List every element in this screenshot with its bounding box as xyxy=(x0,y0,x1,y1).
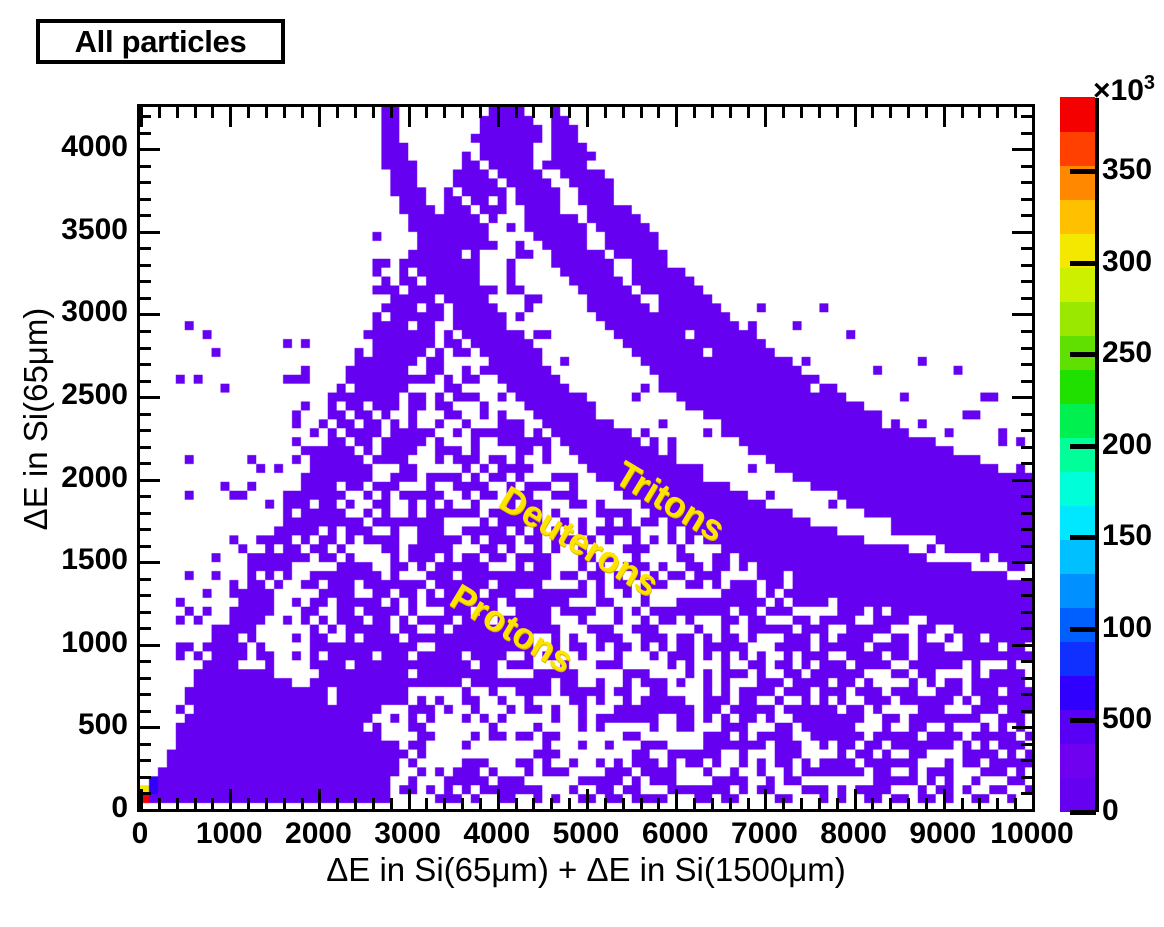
x-tick-top xyxy=(372,107,375,118)
colorbar-band xyxy=(1060,97,1095,132)
x-tick-bottom xyxy=(461,798,464,809)
x-tick-bottom xyxy=(711,798,714,809)
colorbar-band xyxy=(1060,675,1095,710)
x-tick-top xyxy=(907,107,910,118)
x-tick-top xyxy=(640,107,643,118)
colorbar-band xyxy=(1060,267,1095,302)
y-tick-right xyxy=(1021,743,1032,746)
x-tick-top xyxy=(729,107,732,118)
x-tick-top xyxy=(408,107,411,127)
x-tick-top xyxy=(229,107,232,127)
y-tick-right xyxy=(1021,776,1032,779)
colorbar-tick-label: 350 xyxy=(1102,155,1152,185)
y-tick-right xyxy=(1021,693,1032,696)
x-tick-top xyxy=(425,107,428,118)
x-tick-top xyxy=(318,107,321,127)
histogram-bins-canvas xyxy=(140,107,1032,809)
colorbar-tick-label: 250 xyxy=(1102,338,1152,368)
y-tick-left xyxy=(140,165,151,168)
x-tick-top xyxy=(978,107,981,118)
y-tick-left xyxy=(140,347,151,350)
x-tick-bottom xyxy=(800,798,803,809)
y-tick-left xyxy=(140,380,151,383)
y-tick-right xyxy=(1021,363,1032,366)
x-tick-bottom xyxy=(194,798,197,809)
y-tick-left xyxy=(140,132,151,135)
x-tick-bottom xyxy=(229,789,232,809)
x-tick-bottom xyxy=(211,798,214,809)
x-tick-bottom xyxy=(390,798,393,809)
colorbar-tick-label: 0 xyxy=(1102,796,1119,826)
x-tick-bottom xyxy=(657,798,660,809)
y-tick-right xyxy=(1021,446,1032,449)
x-tick-top xyxy=(996,107,999,118)
y-tick-left xyxy=(140,611,151,614)
y-tick-left xyxy=(140,429,151,432)
colorbar-band xyxy=(1060,199,1095,234)
colorbar-exponent-label: ×103 xyxy=(1093,72,1155,108)
y-tick-left xyxy=(140,743,151,746)
x-tick-top xyxy=(532,107,535,118)
x-tick-bottom xyxy=(479,798,482,809)
plot-frame xyxy=(137,104,1035,812)
x-tick-top xyxy=(711,107,714,118)
colorbar-band xyxy=(1060,777,1095,812)
x-tick-top xyxy=(800,107,803,118)
colorbar-tick xyxy=(1070,352,1096,357)
x-tick-bottom xyxy=(729,798,732,809)
y-tick-left xyxy=(140,528,151,531)
x-tick-top xyxy=(1032,107,1035,127)
y-tick-right xyxy=(1021,132,1032,135)
x-tick-bottom xyxy=(604,798,607,809)
x-tick-top xyxy=(604,107,607,118)
x-tick-top xyxy=(1014,107,1017,118)
colorbar-tick-label: 300 xyxy=(1102,247,1152,277)
plot-title-box: All particles xyxy=(36,19,285,64)
y-tick-left xyxy=(140,512,151,515)
y-tick-left xyxy=(140,594,151,597)
x-tick-bottom xyxy=(640,798,643,809)
x-tick-top xyxy=(836,107,839,118)
x-tick-bottom xyxy=(996,798,999,809)
x-tick-top xyxy=(871,107,874,118)
y-tick-left xyxy=(140,627,151,630)
x-tick-top xyxy=(515,107,518,118)
x-tick-bottom xyxy=(515,798,518,809)
x-tick-bottom xyxy=(907,798,910,809)
y-tick-right xyxy=(1012,479,1032,482)
x-tick-top xyxy=(854,107,857,127)
colorbar-tick-label: 200 xyxy=(1102,430,1152,460)
colorbar-axis-line xyxy=(1095,98,1099,812)
y-tick-right xyxy=(1021,462,1032,465)
colorbar-band xyxy=(1060,539,1095,574)
x-tick-bottom xyxy=(336,798,339,809)
y-tick-left xyxy=(140,578,151,581)
x-tick-top xyxy=(354,107,357,118)
x-tick-label: 10000 xyxy=(967,819,1097,849)
y-axis-title: ΔE in Si(65μm) xyxy=(17,99,55,739)
y-tick-left xyxy=(140,297,151,300)
x-tick-bottom xyxy=(408,789,411,809)
colorbar-band xyxy=(1060,471,1095,506)
x-tick-bottom xyxy=(568,798,571,809)
colorbar-tick xyxy=(1070,810,1096,815)
colorbar-band xyxy=(1060,369,1095,404)
x-tick-top xyxy=(301,107,304,118)
y-tick-left xyxy=(140,776,151,779)
y-tick-right xyxy=(1021,264,1032,267)
x-tick-bottom xyxy=(818,798,821,809)
y-tick-right xyxy=(1021,347,1032,350)
y-tick-right xyxy=(1021,528,1032,531)
x-tick-top xyxy=(782,107,785,118)
y-tick-right xyxy=(1021,578,1032,581)
y-tick-left xyxy=(140,181,151,184)
y-tick-right xyxy=(1021,792,1032,795)
y-tick-right xyxy=(1012,726,1032,729)
y-tick-right xyxy=(1021,759,1032,762)
x-tick-bottom xyxy=(176,798,179,809)
y-tick-right xyxy=(1021,545,1032,548)
x-tick-bottom xyxy=(747,798,750,809)
y-tick-left xyxy=(140,545,151,548)
x-tick-bottom xyxy=(372,798,375,809)
x-tick-bottom xyxy=(693,798,696,809)
x-tick-top xyxy=(497,107,500,127)
y-tick-left xyxy=(140,809,160,812)
colorbar-tick xyxy=(1070,535,1096,540)
x-tick-bottom xyxy=(443,798,446,809)
y-tick-right xyxy=(1021,627,1032,630)
y-tick-left xyxy=(140,198,151,201)
y-tick-right xyxy=(1021,710,1032,713)
x-tick-top xyxy=(265,107,268,118)
y-tick-right xyxy=(1012,561,1032,564)
y-tick-right xyxy=(1021,181,1032,184)
y-tick-right xyxy=(1021,297,1032,300)
y-tick-right xyxy=(1021,413,1032,416)
y-tick-left xyxy=(140,313,160,316)
x-tick-top xyxy=(943,107,946,127)
colorbar-band xyxy=(1060,301,1095,336)
x-tick-bottom xyxy=(978,798,981,809)
y-tick-right xyxy=(1021,429,1032,432)
colorbar-tick-label: 500 xyxy=(1102,704,1152,734)
y-tick-left xyxy=(140,396,160,399)
x-tick-top xyxy=(889,107,892,118)
y-tick-left xyxy=(140,495,151,498)
colorbar-tick xyxy=(1070,169,1096,174)
y-tick-left xyxy=(140,413,151,416)
x-tick-top xyxy=(158,107,161,118)
x-tick-bottom xyxy=(532,798,535,809)
x-tick-top xyxy=(657,107,660,118)
x-tick-bottom xyxy=(943,789,946,809)
colorbar-band xyxy=(1060,573,1095,608)
y-tick-right xyxy=(1012,313,1032,316)
x-tick-top xyxy=(818,107,821,118)
colorbar-band xyxy=(1060,641,1095,676)
colorbar-band xyxy=(1060,403,1095,438)
y-tick-right xyxy=(1021,330,1032,333)
y-tick-right xyxy=(1021,677,1032,680)
colorbar-band xyxy=(1060,437,1095,472)
y-tick-right xyxy=(1021,660,1032,663)
x-tick-top xyxy=(479,107,482,118)
x-tick-bottom xyxy=(675,789,678,809)
x-tick-bottom xyxy=(961,798,964,809)
y-tick-right xyxy=(1021,594,1032,597)
x-tick-top xyxy=(961,107,964,118)
x-tick-top xyxy=(390,107,393,118)
x-tick-bottom xyxy=(283,798,286,809)
y-tick-left xyxy=(140,247,151,250)
x-tick-bottom xyxy=(782,798,785,809)
x-tick-top xyxy=(675,107,678,127)
y-tick-left xyxy=(140,264,151,267)
x-tick-bottom xyxy=(158,798,161,809)
y-tick-left xyxy=(140,363,151,366)
y-tick-left xyxy=(140,330,151,333)
y-tick-left xyxy=(140,462,151,465)
colorbar-band xyxy=(1060,743,1095,778)
x-tick-top xyxy=(443,107,446,118)
y-tick-left xyxy=(140,446,151,449)
y-tick-left xyxy=(140,231,160,234)
y-tick-left xyxy=(140,115,151,118)
y-tick-left xyxy=(140,693,151,696)
x-tick-bottom xyxy=(425,798,428,809)
colorbar-tick xyxy=(1070,718,1096,723)
x-tick-top xyxy=(586,107,589,127)
x-tick-bottom xyxy=(889,798,892,809)
x-tick-top xyxy=(925,107,928,118)
x-tick-bottom xyxy=(622,798,625,809)
y-tick-left xyxy=(140,214,151,217)
x-tick-top xyxy=(747,107,750,118)
x-tick-top xyxy=(622,107,625,118)
x-tick-bottom xyxy=(265,798,268,809)
y-tick-left xyxy=(140,561,160,564)
colorbar-tick-label: 150 xyxy=(1102,521,1152,551)
y-tick-right xyxy=(1021,214,1032,217)
y-tick-left xyxy=(140,644,160,647)
x-tick-top xyxy=(176,107,179,118)
x-tick-bottom xyxy=(586,789,589,809)
x-tick-top xyxy=(550,107,553,118)
x-tick-bottom xyxy=(1014,798,1017,809)
y-tick-right xyxy=(1012,231,1032,234)
colorbar-band xyxy=(1060,709,1095,744)
y-tick-right xyxy=(1021,512,1032,515)
y-tick-right xyxy=(1012,644,1032,647)
x-tick-top xyxy=(211,107,214,118)
y-tick-left xyxy=(140,660,151,663)
colorbar-tick-label: 100 xyxy=(1102,613,1152,643)
y-tick-right xyxy=(1021,380,1032,383)
x-tick-top xyxy=(693,107,696,118)
y-tick-left xyxy=(140,148,160,151)
plot-title-text: All particles xyxy=(75,26,247,57)
y-tick-right xyxy=(1021,611,1032,614)
y-tick-right xyxy=(1021,280,1032,283)
y-tick-left xyxy=(140,759,151,762)
x-tick-top xyxy=(247,107,250,118)
y-tick-right xyxy=(1012,396,1032,399)
y-tick-right xyxy=(1012,148,1032,151)
x-axis-title: ΔE in Si(65μm) + ΔE in Si(1500μm) xyxy=(137,851,1035,889)
x-tick-top xyxy=(461,107,464,118)
x-tick-bottom xyxy=(925,798,928,809)
x-tick-top xyxy=(283,107,286,118)
x-tick-bottom xyxy=(550,798,553,809)
colorbar-gradient xyxy=(1060,98,1095,812)
x-tick-top xyxy=(764,107,767,127)
colorbar-tick xyxy=(1070,627,1096,632)
y-tick-left xyxy=(140,710,151,713)
y-tick-left xyxy=(140,677,151,680)
x-tick-bottom xyxy=(1032,789,1035,809)
x-tick-bottom xyxy=(318,789,321,809)
x-tick-bottom xyxy=(247,798,250,809)
y-tick-right xyxy=(1021,247,1032,250)
y-tick-left xyxy=(140,726,160,729)
y-tick-left xyxy=(140,280,151,283)
x-tick-bottom xyxy=(871,798,874,809)
x-tick-bottom xyxy=(764,789,767,809)
y-tick-left xyxy=(140,479,160,482)
y-tick-right xyxy=(1012,809,1032,812)
x-tick-bottom xyxy=(854,789,857,809)
y-tick-right xyxy=(1021,198,1032,201)
y-tick-right xyxy=(1021,495,1032,498)
x-tick-top xyxy=(336,107,339,118)
x-tick-bottom xyxy=(354,798,357,809)
y-tick-right xyxy=(1021,165,1032,168)
x-tick-top xyxy=(568,107,571,118)
x-tick-top xyxy=(194,107,197,118)
colorbar-tick xyxy=(1070,444,1096,449)
x-tick-bottom xyxy=(301,798,304,809)
colorbar-band xyxy=(1060,131,1095,166)
x-tick-bottom xyxy=(836,798,839,809)
colorbar-band xyxy=(1060,607,1095,642)
x-tick-bottom xyxy=(497,789,500,809)
y-tick-right xyxy=(1021,115,1032,118)
y-tick-left xyxy=(140,792,151,795)
colorbar-tick xyxy=(1070,261,1096,266)
